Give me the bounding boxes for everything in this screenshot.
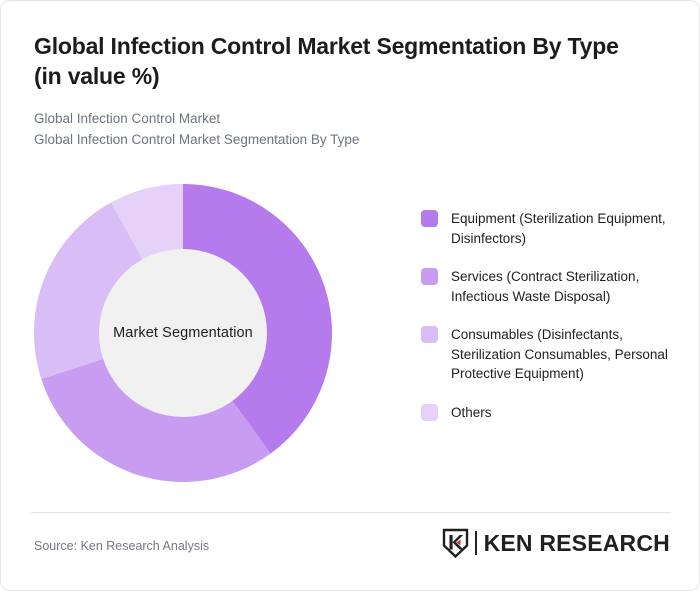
legend-item[interactable]: Consumables (Disinfectants, Sterilizatio… — [421, 325, 671, 384]
ken-research-shield-icon — [442, 528, 469, 558]
donut-svg — [34, 184, 332, 482]
page-title: Global Infection Control Market Segmenta… — [34, 31, 634, 91]
subtitle-segmentation: Global Infection Control Market Segmenta… — [34, 129, 634, 150]
logo-wordmark: KEN RESEARCH — [484, 531, 670, 555]
logo-divider — [475, 531, 477, 555]
legend-item[interactable]: Others — [421, 403, 671, 423]
chart-card: Global Infection Control Market Segmenta… — [0, 0, 700, 591]
chart-area: Market Segmentation Equipment (Steriliza… — [1, 169, 700, 499]
chart-legend: Equipment (Sterilization Equipment, Disi… — [421, 209, 671, 422]
chart-header: Global Infection Control Market Segmenta… — [34, 31, 634, 150]
legend-item-label: Services (Contract Sterilization, Infect… — [451, 267, 671, 306]
subtitle-group: Global Infection Control Market Global I… — [34, 108, 634, 150]
legend-swatch-icon — [421, 404, 438, 421]
legend-item-label: Others — [451, 403, 492, 423]
donut-hole — [99, 249, 267, 417]
legend-item[interactable]: Equipment (Sterilization Equipment, Disi… — [421, 209, 671, 248]
legend-swatch-icon — [421, 210, 438, 227]
legend-item-label: Consumables (Disinfectants, Sterilizatio… — [451, 325, 671, 384]
legend-item[interactable]: Services (Contract Sterilization, Infect… — [421, 267, 671, 306]
footer-divider — [31, 512, 671, 513]
legend-swatch-icon — [421, 326, 438, 343]
donut-chart: Market Segmentation — [34, 184, 332, 482]
legend-swatch-icon — [421, 268, 438, 285]
ken-research-logo: KEN RESEARCH — [442, 526, 670, 560]
subtitle-market: Global Infection Control Market — [34, 108, 634, 129]
source-note: Source: Ken Research Analysis — [34, 539, 209, 553]
legend-item-label: Equipment (Sterilization Equipment, Disi… — [451, 209, 671, 248]
